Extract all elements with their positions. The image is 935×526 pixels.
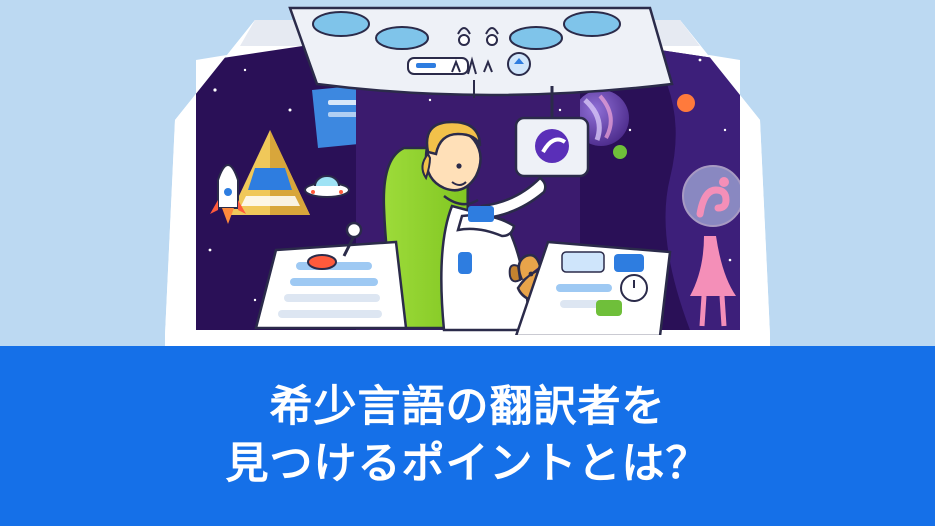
green-planet [613, 145, 627, 159]
small-planet [677, 94, 695, 112]
illustration-area [0, 0, 935, 346]
flamingo-in-bubble [683, 166, 743, 226]
left-console [256, 242, 406, 328]
caption-line-1: 希少言語の翻訳者を [270, 379, 666, 436]
caption-line-2: 見つけるポイントとは？ [226, 436, 710, 493]
banner: 希少言語の翻訳者を 見つけるポイントとは？ [0, 0, 935, 526]
center-console [394, 238, 544, 278]
caption-bar: 希少言語の翻訳者を 見つけるポイントとは？ [0, 346, 935, 526]
spaceship-cockpit-illustration [0, 0, 935, 346]
top-console [290, 8, 672, 98]
cockpit-floor [165, 335, 770, 346]
